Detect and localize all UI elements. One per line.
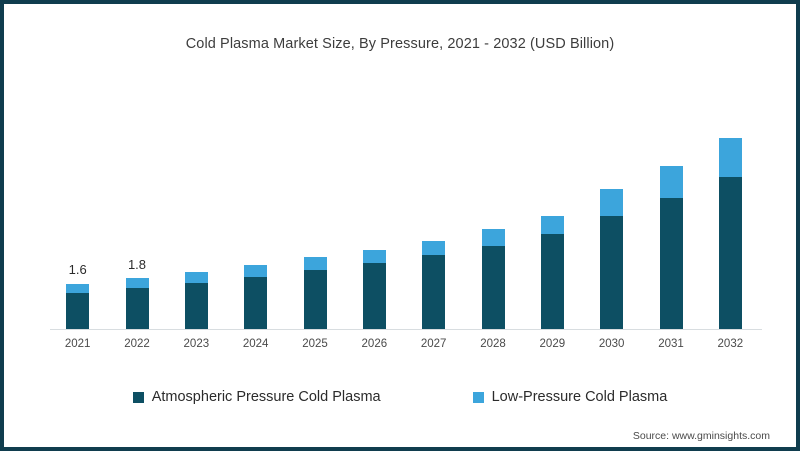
- bar-segment-low-pressure-2029[interactable]: [541, 216, 564, 235]
- bar-segment-low-pressure-2032[interactable]: [719, 138, 742, 177]
- bar-segment-atmospheric-2027[interactable]: [422, 255, 445, 329]
- bar-2028[interactable]: [482, 229, 505, 329]
- bar-segment-atmospheric-2032[interactable]: [719, 177, 742, 329]
- bar-2023[interactable]: [185, 272, 208, 329]
- bar-segment-low-pressure-2023[interactable]: [185, 272, 208, 283]
- legend-item-low-pressure[interactable]: Low-Pressure Cold Plasma: [473, 389, 668, 405]
- bar-2021[interactable]: [66, 284, 89, 330]
- x-tick-2030: 2030: [582, 338, 642, 350]
- x-tick-2026: 2026: [344, 338, 404, 350]
- x-axis-tick-labels: 2021202220232024202520262027202820292030…: [50, 338, 762, 358]
- bar-2027[interactable]: [422, 241, 445, 329]
- data-label-2021: 1.6: [48, 262, 108, 277]
- bar-segment-low-pressure-2031[interactable]: [660, 166, 683, 198]
- bar-segment-low-pressure-2028[interactable]: [482, 229, 505, 246]
- bar-segment-atmospheric-2026[interactable]: [363, 263, 386, 329]
- x-tick-2024: 2024: [226, 338, 286, 350]
- chart-legend: Atmospheric Pressure Cold PlasmaLow-Pres…: [4, 389, 796, 405]
- bar-segment-atmospheric-2021[interactable]: [66, 293, 89, 329]
- bar-segment-low-pressure-2022[interactable]: [126, 278, 149, 288]
- bar-segment-atmospheric-2025[interactable]: [304, 270, 327, 329]
- bar-2031[interactable]: [660, 166, 683, 329]
- x-axis-line: [50, 329, 762, 330]
- bar-segment-low-pressure-2021[interactable]: [66, 284, 89, 293]
- plot-area: 1.61.8: [50, 74, 762, 330]
- x-tick-2023: 2023: [166, 338, 226, 350]
- x-tick-2027: 2027: [404, 338, 464, 350]
- bar-segment-atmospheric-2029[interactable]: [541, 234, 564, 329]
- legend-swatch-icon: [473, 392, 484, 403]
- x-tick-2028: 2028: [463, 338, 523, 350]
- bar-2025[interactable]: [304, 257, 327, 329]
- bar-segment-atmospheric-2031[interactable]: [660, 198, 683, 329]
- chart-card: Cold Plasma Market Size, By Pressure, 20…: [0, 0, 800, 451]
- bar-segment-low-pressure-2024[interactable]: [244, 265, 267, 277]
- bar-2029[interactable]: [541, 216, 564, 329]
- data-label-2022: 1.8: [107, 257, 167, 272]
- legend-item-atmospheric-pressure[interactable]: Atmospheric Pressure Cold Plasma: [133, 389, 381, 405]
- bar-segment-atmospheric-2030[interactable]: [600, 216, 623, 329]
- bar-segment-atmospheric-2028[interactable]: [482, 246, 505, 329]
- bar-segment-atmospheric-2022[interactable]: [126, 288, 149, 329]
- bar-2026[interactable]: [363, 250, 386, 329]
- legend-label: Low-Pressure Cold Plasma: [492, 389, 668, 405]
- x-tick-2032: 2032: [700, 338, 760, 350]
- bar-segment-low-pressure-2027[interactable]: [422, 241, 445, 256]
- legend-label: Atmospheric Pressure Cold Plasma: [152, 389, 381, 405]
- bar-2022[interactable]: [126, 278, 149, 329]
- bar-segment-low-pressure-2030[interactable]: [600, 189, 623, 217]
- x-tick-2021: 2021: [48, 338, 108, 350]
- bar-segment-atmospheric-2023[interactable]: [185, 283, 208, 329]
- x-tick-2031: 2031: [641, 338, 701, 350]
- x-tick-2029: 2029: [522, 338, 582, 350]
- bar-segment-atmospheric-2024[interactable]: [244, 277, 267, 329]
- bar-segment-low-pressure-2025[interactable]: [304, 257, 327, 270]
- bar-2032[interactable]: [719, 138, 742, 329]
- bar-2024[interactable]: [244, 265, 267, 329]
- bar-2030[interactable]: [600, 189, 623, 330]
- x-tick-2025: 2025: [285, 338, 345, 350]
- bar-segment-low-pressure-2026[interactable]: [363, 250, 386, 264]
- legend-swatch-icon: [133, 392, 144, 403]
- chart-title: Cold Plasma Market Size, By Pressure, 20…: [4, 36, 796, 52]
- source-note: Source: www.gminsights.com: [633, 430, 770, 442]
- x-tick-2022: 2022: [107, 338, 167, 350]
